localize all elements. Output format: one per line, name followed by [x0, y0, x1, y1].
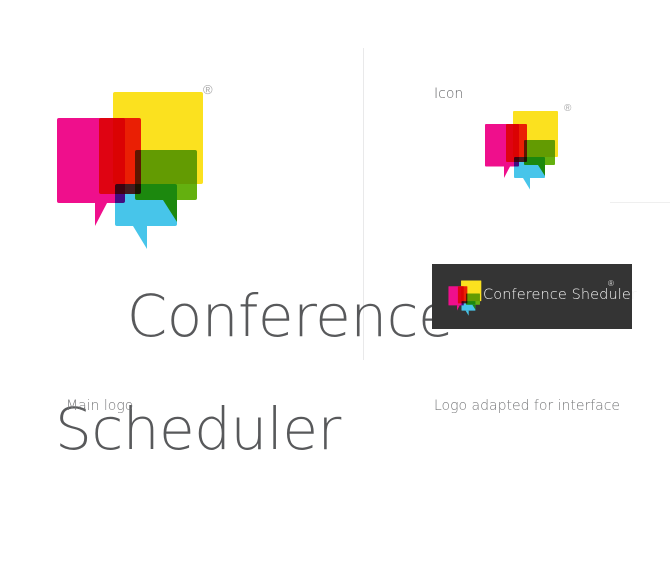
- interface-wordmark: Conference Sheduler: [483, 287, 637, 303]
- cyan-bubble-body: [115, 184, 177, 226]
- interface-logo-mark: [448, 280, 482, 313]
- cyan-bubble: [514, 157, 545, 178]
- caption-main-logo: Main logo: [66, 398, 133, 414]
- cyan-bubble-tail: [523, 178, 530, 190]
- section-label-icon: Icon: [434, 86, 463, 102]
- pink-bubble-tail: [457, 305, 460, 310]
- horizontal-divider: [610, 202, 670, 203]
- cyan-bubble: [115, 184, 177, 226]
- cyan-bubble: [462, 301, 476, 310]
- registered-trademark-icon: ®: [564, 104, 571, 114]
- cyan-bubble-body: [462, 301, 476, 310]
- wordmark-line-1: Conference: [127, 282, 453, 350]
- registered-trademark-icon: ®: [203, 83, 213, 96]
- interface-logo-bar: Conference Sheduler ®: [432, 264, 632, 329]
- caption-interface-logo: Logo adapted for interface: [434, 398, 620, 414]
- pink-bubble-tail: [95, 203, 107, 226]
- main-logo-mark: [55, 90, 205, 235]
- registered-trademark-icon: ®: [608, 280, 614, 288]
- pink-bubble-tail: [504, 167, 510, 179]
- cyan-bubble-body: [514, 157, 545, 178]
- cyan-bubble-tail: [466, 311, 469, 316]
- icon-logo-mark: [484, 110, 559, 183]
- style-sheet-canvas: ® Conference Scheduler Main logo Icon ®: [0, 0, 670, 479]
